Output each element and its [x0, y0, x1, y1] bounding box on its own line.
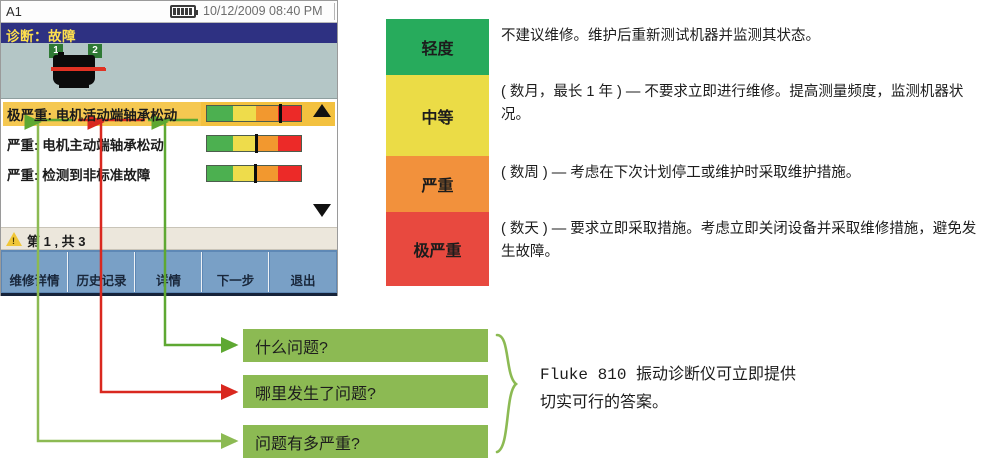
- legend-row-serious: 严重 ( 数周 ) — 考虑在下次计划停工或维护时采取维护措施。: [386, 156, 986, 212]
- motor-shaft-end-icon: [94, 68, 106, 71]
- severity-legend: 轻度 不建议维修。维护后重新测试机器并监测其状态。 中等 ( 数月，最长 1 年…: [386, 19, 986, 286]
- tagline-text: Fluke 810 振动诊断仪可立即提供 切实可行的答案。: [540, 362, 870, 416]
- legend-row-slight: 轻度 不建议维修。维护后重新测试机器并监测其状态。: [386, 19, 986, 75]
- tagline-line-2: 切实可行的答案。: [540, 389, 870, 416]
- softkey-exit[interactable]: 退出: [270, 252, 336, 292]
- fluke-device-screen: A1 10/12/2009 08:40 PM 诊断：故障 1 2 极严重: 电机…: [0, 0, 338, 296]
- legend-row-moderate: 中等 ( 数月，最长 1 年 ) — 不要求立即进行维修。提高测量频度，监测机器…: [386, 75, 986, 156]
- callout-where-problem: 哪里发生了问题?: [243, 375, 488, 408]
- fault-label: 严重: 电机主动端轴承松动: [7, 134, 164, 154]
- table-row[interactable]: 严重: 电机主动端轴承松动: [3, 132, 335, 156]
- severity-marker: [279, 104, 282, 123]
- callout-label: 问题有多严重?: [243, 430, 360, 454]
- fault-list: 极严重: 电机活动端轴承松动 严重: 电机主动端轴承松动 严重: 检测到非标准故…: [1, 99, 337, 224]
- fault-label: 极严重: 电机活动端轴承松动: [7, 104, 177, 124]
- status-divider: [334, 3, 335, 20]
- severity-marker: [254, 164, 257, 183]
- softkey-next[interactable]: 下一步: [203, 252, 269, 292]
- legend-description: ( 数月，最长 1 年 ) — 不要求立即进行维修。提高测量频度，监测机器状况。: [489, 75, 986, 156]
- table-row[interactable]: 严重: 检测到非标准故障: [3, 162, 335, 186]
- unit-label: A1: [6, 4, 22, 19]
- severity-bar: [206, 165, 302, 182]
- legend-description: 不建议维修。维护后重新测试机器并监测其状态。: [489, 19, 986, 75]
- callout-what-problem: 什么问题?: [243, 329, 488, 362]
- legend-row-extreme: 极严重 ( 数天 ) — 要求立即采取措施。考虑立即关闭设备并采取维修措施，避免…: [386, 212, 986, 286]
- softkey-history[interactable]: 历史记录: [69, 252, 135, 292]
- machine-diagram: 1 2: [1, 43, 337, 99]
- legend-description: ( 数天 ) — 要求立即采取措施。考虑立即关闭设备并采取维修措施，避免发生故障…: [489, 212, 986, 286]
- legend-swatch: 极严重: [386, 212, 489, 286]
- callout-label: 什么问题?: [243, 334, 328, 358]
- legend-swatch: 轻度: [386, 19, 489, 75]
- legend-swatch: 中等: [386, 75, 489, 156]
- page-root: A1 10/12/2009 08:40 PM 诊断：故障 1 2 极严重: 电机…: [0, 0, 990, 468]
- motor-base-icon: [59, 83, 89, 88]
- severity-bar: [206, 135, 302, 152]
- page-status-bar: 第 1 , 共 3: [1, 227, 337, 250]
- softkey-bar: 维修详情 历史记录 详情 下一步 退出: [1, 250, 337, 296]
- page-title: 诊断：故障: [6, 25, 76, 45]
- curly-brace-icon: [497, 335, 516, 452]
- device-title-bar: 诊断：故障: [1, 23, 337, 43]
- fault-label: 严重: 检测到非标准故障: [7, 164, 150, 184]
- device-status-bar: A1 10/12/2009 08:40 PM: [1, 1, 337, 23]
- severity-marker: [255, 134, 258, 153]
- callout-label: 哪里发生了问题?: [243, 380, 376, 404]
- warning-triangle-icon: [6, 232, 22, 246]
- severity-bar: [206, 105, 302, 122]
- tagline-line-1: Fluke 810 振动诊断仪可立即提供: [540, 362, 870, 389]
- page-indicator: 第 1 , 共 3: [27, 231, 86, 250]
- timestamp-label: 10/12/2009 08:40 PM: [203, 4, 323, 18]
- softkey-details[interactable]: 详情: [136, 252, 202, 292]
- table-row[interactable]: 极严重: 电机活动端轴承松动: [3, 102, 335, 126]
- scroll-up-arrow-icon[interactable]: [313, 104, 331, 117]
- legend-swatch: 严重: [386, 156, 489, 212]
- scroll-down-arrow-icon[interactable]: [313, 204, 331, 217]
- battery-full-icon: [170, 5, 196, 18]
- softkey-repair-details[interactable]: 维修详情: [2, 252, 68, 292]
- legend-description: ( 数周 ) — 考虑在下次计划停工或维护时采取维护措施。: [489, 156, 986, 212]
- callout-how-severe: 问题有多严重?: [243, 425, 488, 458]
